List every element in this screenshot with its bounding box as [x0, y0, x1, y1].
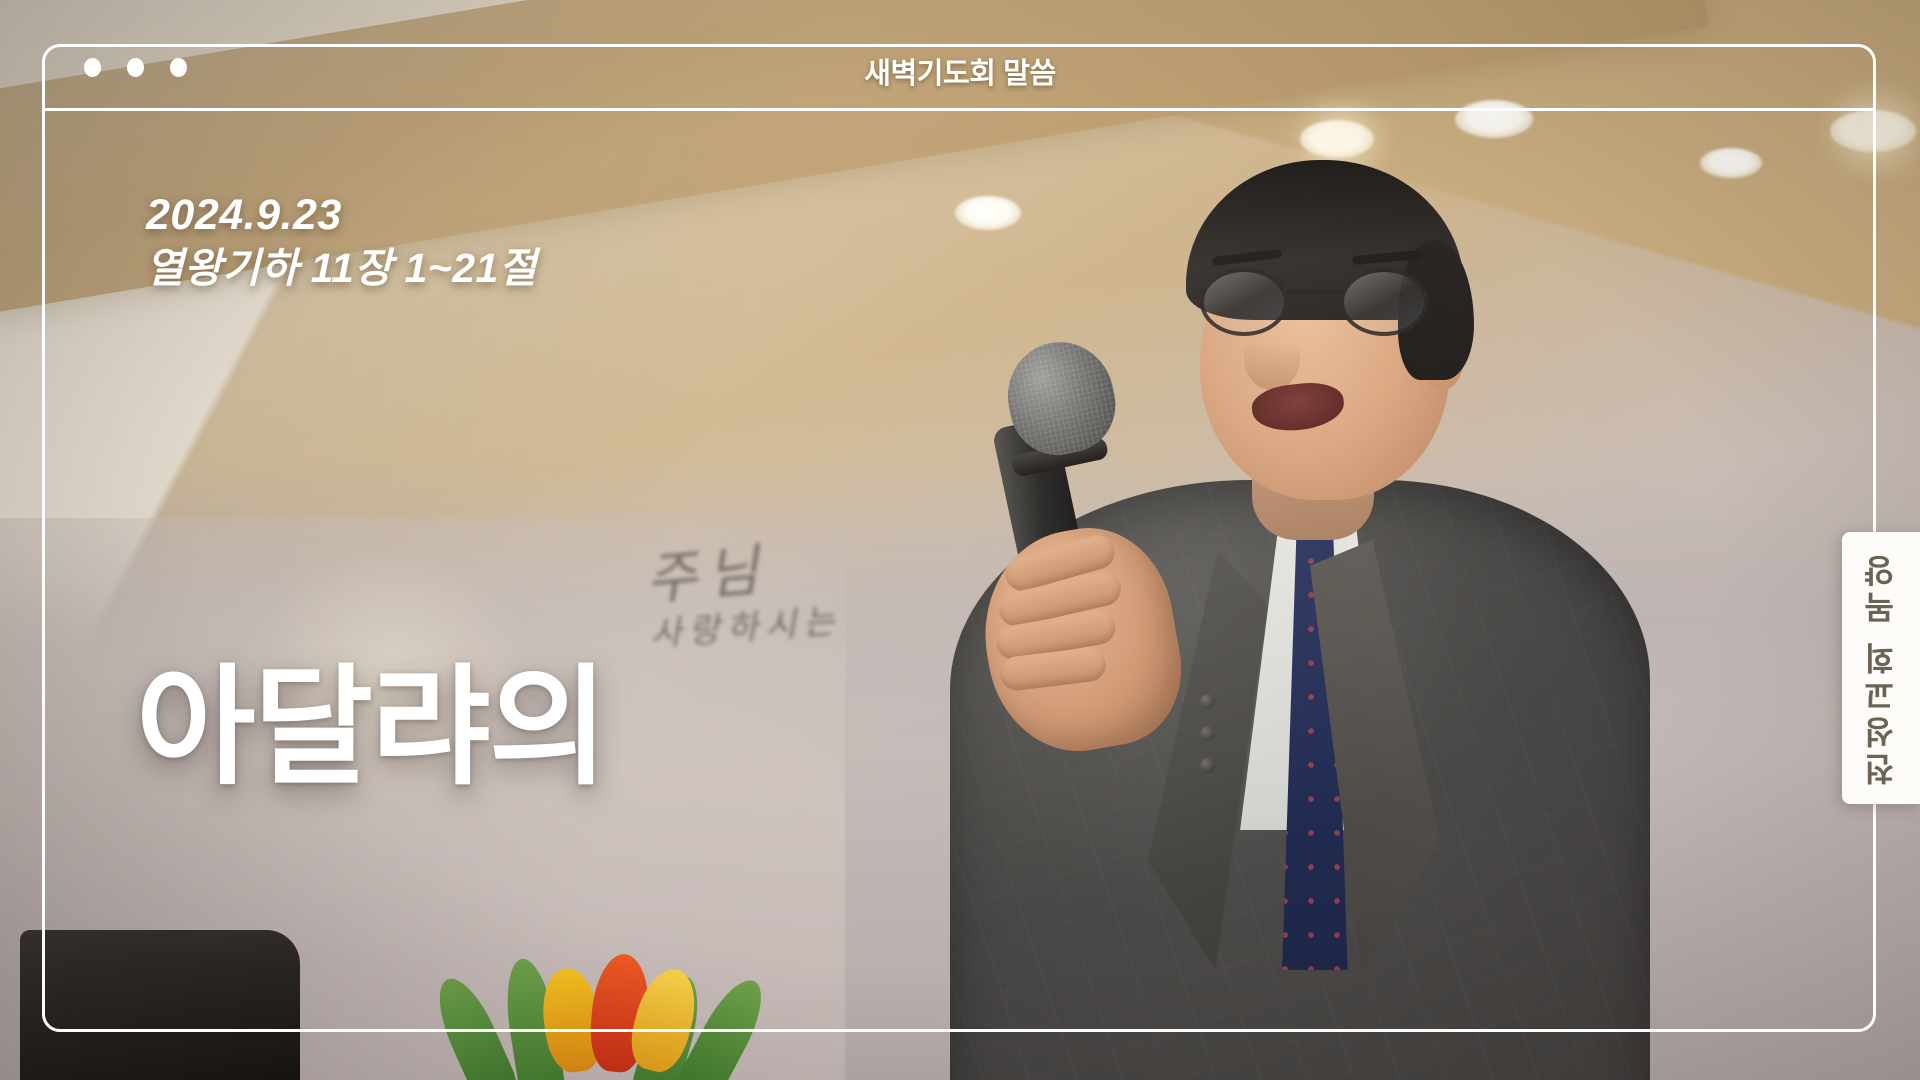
church-vertical-badge-label: 천성교회 목양 — [1858, 550, 1904, 786]
ceiling-glow-2 — [1812, 88, 1920, 174]
window-title: 새벽기도회 말씀 — [0, 50, 1920, 92]
suit-buttons — [1200, 694, 1215, 790]
church-vertical-badge: 천성교회 목양 — [1842, 532, 1920, 804]
ceiling-light-5 — [1700, 148, 1762, 178]
speaker-figure — [900, 70, 1700, 1080]
eyeglass-bridge — [1286, 290, 1344, 294]
sermon-title: 아달랴의 반역과 다윗 왕조의 회복 — [136, 350, 758, 1080]
scripture-reference: 열왕기하 11장 1~21절 — [146, 243, 537, 293]
sermon-date: 2024.9.23 — [146, 190, 537, 241]
eyeglasses — [1200, 268, 1452, 338]
sermon-thumbnail: 주님 사랑하시는 — [0, 0, 1920, 1080]
sermon-title-line-1: 아달랴의 — [136, 652, 758, 803]
eyeglass-lens-left — [1200, 268, 1288, 336]
sermon-meta: 2024.9.23 열왕기하 11장 1~21절 — [146, 190, 537, 293]
eyeglass-lens-right — [1340, 268, 1428, 336]
